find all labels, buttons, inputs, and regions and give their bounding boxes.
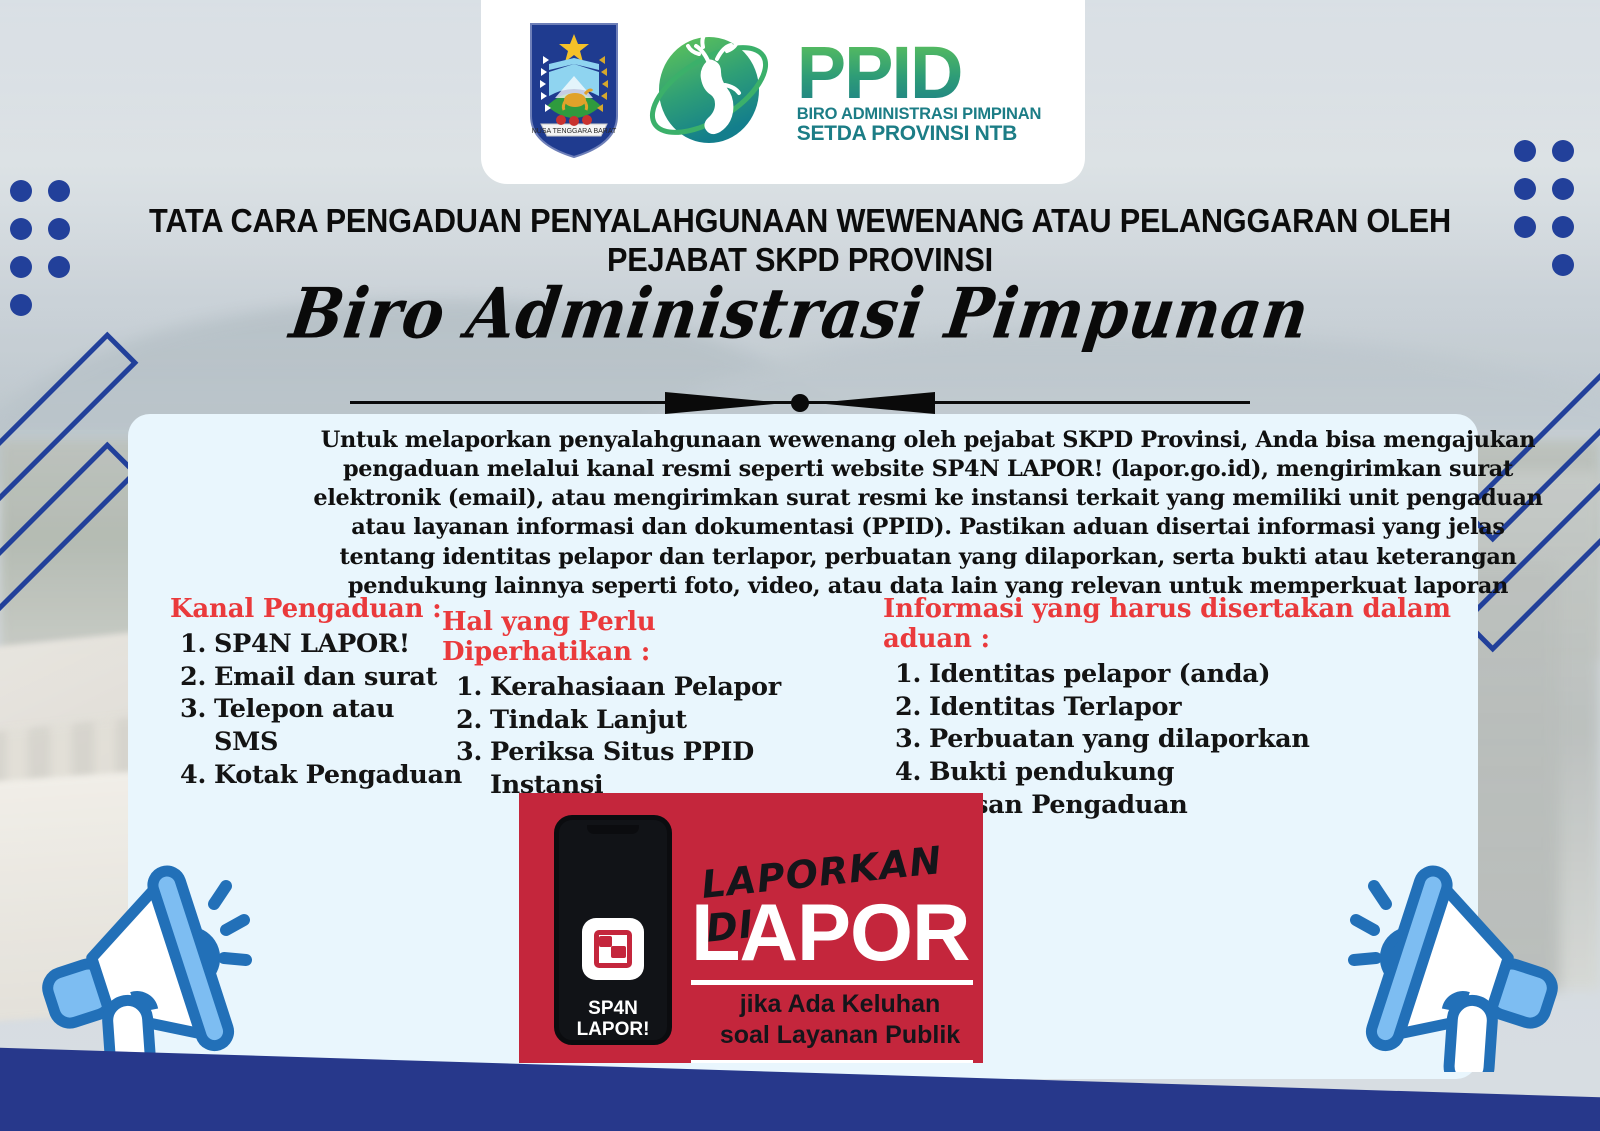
- divider-arrow-right-icon: [815, 392, 935, 414]
- ppid-title: PPID: [797, 36, 1041, 110]
- list-item: Bukti pendukung: [929, 756, 1463, 789]
- sp4n-app-icon: [582, 918, 644, 980]
- list-item: Telepon atau SMS: [214, 693, 462, 758]
- ppid-logo: PPID BIRO ADMINISTRASI PIMPINAN SETDA PR…: [637, 27, 1041, 153]
- ppid-subtitle-2: SETDA PROVINSI NTB: [797, 123, 1041, 144]
- app-icon-bubble-2: [611, 946, 626, 958]
- list-column-kanal-pengaduan: Kanal Pengaduan : SP4N LAPOR! Email dan …: [152, 594, 462, 791]
- lapor-tagline: jika Ada Keluhan soal Layanan Publik: [695, 989, 983, 1050]
- dot: [10, 180, 32, 202]
- poster-root: NUSA TENGGARA BARAT: [0, 0, 1600, 1131]
- logo-header-panel: NUSA TENGGARA BARAT: [481, 0, 1085, 184]
- phone-mockup-icon: SP4N LAPOR!: [554, 815, 672, 1045]
- dot: [1514, 178, 1536, 200]
- list-item: Identitas Terlapor: [929, 691, 1463, 724]
- list-column-hal-yang-perlu-diperhatikan: Hal yang Perlu Diperhatikan : Kerahasiaa…: [428, 607, 808, 802]
- divider-ornament: [350, 392, 1250, 414]
- dot: [1514, 140, 1536, 162]
- ntb-provincial-crest-icon: NUSA TENGGARA BARAT: [525, 20, 623, 160]
- megaphone-icon-left: [28, 842, 258, 1072]
- dot: [1552, 140, 1574, 162]
- list-item: Tindak Lanjut: [490, 704, 808, 737]
- lists-container: Kanal Pengaduan : SP4N LAPOR! Email dan …: [128, 594, 1478, 814]
- column-heading: Kanal Pengaduan :: [152, 594, 462, 624]
- dot: [10, 218, 32, 240]
- list-item: Alasan Pengaduan: [929, 789, 1463, 822]
- megaphone-icon-right: [1342, 842, 1572, 1072]
- list-items: SP4N LAPOR! Email dan surat Telepon atau…: [152, 628, 462, 791]
- divider-arrow-left-icon: [665, 392, 785, 414]
- phone-app-label-line-1: SP4N: [559, 998, 667, 1019]
- phone-app-label: SP4N LAPOR!: [559, 998, 667, 1041]
- dot-grid-right: [1514, 140, 1590, 292]
- list-column-informasi-aduan: Informasi yang harus disertakan dalam ad…: [873, 594, 1463, 821]
- lapor-rule-bottom: [691, 1060, 973, 1063]
- divider-center-dot-icon: [791, 394, 809, 412]
- phone-notch-icon: [587, 825, 639, 834]
- lapor-rule-top: [691, 980, 973, 985]
- deer-globe-icon: [637, 27, 787, 153]
- dot: [1552, 178, 1574, 200]
- ppid-subtitle-1: BIRO ADMINISTRASI PIMPINAN: [797, 106, 1041, 123]
- ppid-wordmark: PPID BIRO ADMINISTRASI PIMPINAN SETDA PR…: [797, 36, 1041, 145]
- list-item: Identitas pelapor (anda): [929, 658, 1463, 691]
- list-item: Kerahasiaan Pelapor: [490, 671, 808, 704]
- app-icon-bubble-1: [599, 936, 612, 947]
- page-title: TATA CARA PENGADUAN PENYALAHGUNAAN WEWEN…: [112, 202, 1488, 280]
- title-line-1: TATA CARA PENGADUAN PENYALAHGUNAAN WEWEN…: [149, 202, 1451, 239]
- intro-paragraph: Untuk melaporkan penyalahgunaan wewenang…: [308, 426, 1548, 601]
- column-heading: Informasi yang harus disertakan dalam ad…: [873, 594, 1463, 654]
- phone-app-label-line-2: LAPOR!: [559, 1019, 667, 1040]
- dot: [1514, 216, 1536, 238]
- column-heading: Hal yang Perlu Diperhatikan :: [428, 607, 808, 667]
- list-item: Periksa Situs PPID Instansi: [490, 736, 808, 801]
- lapor-tagline-line-1: jika Ada Keluhan: [695, 989, 983, 1020]
- lapor-wordmark: LAPOR: [691, 895, 970, 972]
- script-subtitle: Biro Administrasi Pimpunan: [0, 273, 1600, 355]
- list-items: Kerahasiaan Pelapor Tindak Lanjut Periks…: [428, 671, 808, 802]
- list-item: Perbuatan yang dilaporkan: [929, 723, 1463, 756]
- dot: [1552, 216, 1574, 238]
- list-item: Email dan surat: [214, 661, 462, 694]
- dot: [48, 218, 70, 240]
- lapor-tagline-line-2: soal Layanan Publik: [695, 1020, 983, 1051]
- dot: [48, 180, 70, 202]
- crest-ribbon-text: NUSA TENGGARA BARAT: [531, 128, 616, 135]
- lapor-banner[interactable]: SP4N LAPOR! LAPORKAN DI LAPOR jika Ada K…: [519, 793, 983, 1063]
- list-item: Kotak Pengaduan: [214, 759, 462, 792]
- list-item: SP4N LAPOR!: [214, 628, 462, 661]
